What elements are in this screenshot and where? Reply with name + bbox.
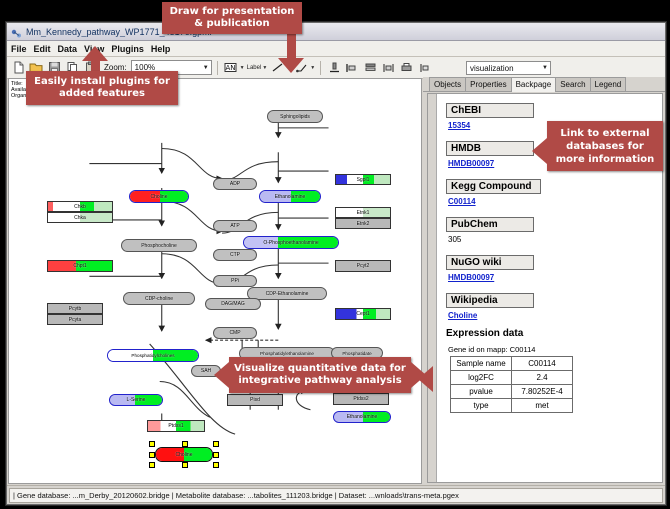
chevron-down-icon[interactable]: ▼ xyxy=(310,65,315,71)
callout-visualize: Visualize quantitative data for integrat… xyxy=(229,357,411,393)
visualization-value: visualization xyxy=(470,64,514,73)
align-left-icon[interactable] xyxy=(344,60,360,76)
node-sphingolipids[interactable]: Sphingolipids xyxy=(267,110,323,123)
backpage-link-kegg[interactable]: C00114 xyxy=(448,197,654,206)
node-ethanolamine-right[interactable]: Ethanolamine xyxy=(333,411,391,423)
datanode-tool[interactable]: AN ▼ xyxy=(223,60,245,76)
node-ethanolamine[interactable]: Ethanolamine xyxy=(259,190,321,203)
selection-handles[interactable] xyxy=(149,441,219,468)
callout-links-line2: databases for xyxy=(566,141,644,152)
node-atp[interactable]: ATP xyxy=(213,220,257,232)
title-bar: Mm_Kennedy_pathway_WP1771_45176.gpml xyxy=(7,23,665,41)
gene-pcyt2[interactable]: Pcyt2 xyxy=(335,260,391,272)
gene-pcyta[interactable]: Pcyta xyxy=(47,314,103,325)
gene-chpt1[interactable]: Chpt1 xyxy=(47,260,113,272)
menu-item-edit[interactable]: Edit xyxy=(34,44,51,54)
tab-objects[interactable]: Objects xyxy=(429,77,466,91)
callout-draw: Draw for presentation & publication xyxy=(162,2,302,34)
callout-plugins-line1: Easily install plugins for xyxy=(34,76,170,87)
svg-text:AN: AN xyxy=(226,64,236,72)
node-cdp-choline[interactable]: CDP-choline xyxy=(123,292,195,305)
backpage-heading-hmdb: HMDB xyxy=(446,141,534,156)
callout-draw-stem xyxy=(287,34,296,60)
gene-etnk1[interactable]: Etnk1 xyxy=(335,207,391,218)
callout-visualize-arrow-icon xyxy=(214,362,229,388)
label-tool[interactable]: Label ▼ xyxy=(247,65,268,71)
tab-search[interactable]: Search xyxy=(555,77,590,91)
backpage-scrollbar[interactable] xyxy=(428,94,437,482)
callout-draw-line2: & publication xyxy=(194,18,269,29)
table-row: Sample name C00114 xyxy=(451,357,573,371)
gene-cept1[interactable]: Cept1 xyxy=(335,308,391,320)
tab-legend[interactable]: Legend xyxy=(590,77,627,91)
toolbar-separator xyxy=(320,61,321,75)
align-bottom-icon[interactable] xyxy=(326,60,342,76)
status-text: | Gene database: ...m_Derby_20120602.bri… xyxy=(9,488,663,503)
callout-plugins-line2: added features xyxy=(59,88,145,99)
expression-table: Sample name C00114 log2FC 2.4 pvalue 7.8… xyxy=(450,356,573,413)
node-adp[interactable]: ADP xyxy=(213,178,257,190)
cell-label-sample: Sample name xyxy=(451,357,512,371)
cell-value-log2fc: 2.4 xyxy=(512,371,573,385)
new-file-icon[interactable] xyxy=(10,60,26,76)
callout-plugins-arrow-icon xyxy=(82,46,108,61)
menu-item-data[interactable]: Data xyxy=(58,44,78,54)
node-l-serine-left[interactable]: L-Serine xyxy=(109,394,163,406)
cell-label-log2fc: log2FC xyxy=(451,371,512,385)
table-row: log2FC 2.4 xyxy=(451,371,573,385)
pathvisio-icon xyxy=(11,26,22,37)
visualization-combo[interactable]: visualization ▼ xyxy=(466,61,551,75)
gene-ptdss1[interactable]: Ptdss1 xyxy=(147,420,205,432)
gene-chkb[interactable]: Chkb xyxy=(47,201,113,212)
node-phosphatidylcholines[interactable]: Phosphatidylcholines xyxy=(107,349,199,362)
node-ctp[interactable]: CTP xyxy=(213,249,257,261)
chevron-down-icon[interactable]: ▼ xyxy=(262,65,267,71)
gene-etnk2[interactable]: Etnk2 xyxy=(335,218,391,229)
backpage-heading-nugo: NuGO wiki xyxy=(446,255,534,270)
cell-label-pvalue: pvalue xyxy=(451,385,512,399)
chevron-down-icon: ▼ xyxy=(203,65,209,71)
callout-plugins: Easily install plugins for added feature… xyxy=(26,71,178,105)
chevron-down-icon[interactable]: ▼ xyxy=(240,65,245,71)
callout-links-line1: Link to external xyxy=(560,128,649,139)
menu-item-file[interactable]: File xyxy=(11,44,27,54)
node-phosphocholine[interactable]: Phosphocholine xyxy=(121,239,197,252)
gene-pisd[interactable]: Pisd xyxy=(227,394,283,406)
callout-visualize-line2: integrative pathway analysis xyxy=(238,375,401,386)
info-panel-tabs: Objects Properties Backpage Search Legen… xyxy=(423,77,665,92)
gene-ptdss2[interactable]: Ptdss2 xyxy=(333,393,389,405)
cell-label-type: type xyxy=(451,399,512,413)
callout-visualize-line1: Visualize quantitative data for xyxy=(234,363,406,374)
toolbar-separator xyxy=(217,61,218,75)
node-cdp-ethanolamine[interactable]: CDP-Ethanolamine xyxy=(247,287,327,300)
node-o-phosphoethanolamine[interactable]: O-Phosphoethanolamine xyxy=(243,236,339,249)
menu-item-plugins[interactable]: Plugins xyxy=(111,44,144,54)
menu-item-help[interactable]: Help xyxy=(151,44,171,54)
callout-draw-arrow-icon xyxy=(278,58,304,73)
cell-value-type: met xyxy=(512,399,573,413)
table-row: type met xyxy=(451,399,573,413)
cell-value-sample: C00114 xyxy=(512,357,573,371)
stack-icon[interactable] xyxy=(362,60,378,76)
callout-expression-pointer-icon xyxy=(418,366,433,392)
backpage-heading-kegg: Kegg Compound xyxy=(446,179,541,194)
status-bar: | Gene database: ...m_Derby_20120602.bri… xyxy=(7,485,665,504)
same-width-icon[interactable] xyxy=(380,60,396,76)
pathway-drawing[interactable]: Title: Availa Organ xyxy=(9,79,421,483)
expression-data-title: Expression data xyxy=(446,328,654,339)
node-choline-top[interactable]: Choline xyxy=(129,190,189,203)
callout-links-line3: more information xyxy=(556,154,655,165)
gene-chka[interactable]: Chka xyxy=(47,212,113,223)
gene-pcytb[interactable]: Pcytb xyxy=(47,303,103,314)
backpage-link-wikipedia[interactable]: Choline xyxy=(448,311,654,320)
callout-links-arrow-icon xyxy=(532,138,547,164)
pathway-canvas[interactable]: Title: Availa Organ xyxy=(8,78,422,484)
backpage-link-nugo[interactable]: HMDB00097 xyxy=(448,273,654,282)
node-dag-mag[interactable]: DAG/MAG xyxy=(205,298,261,310)
cell-value-pvalue: 7.80252E-4 xyxy=(512,385,573,399)
datanode-icon[interactable]: AN xyxy=(223,60,239,76)
callout-draw-line1: Draw for presentation xyxy=(170,6,295,17)
chevron-down-icon: ▼ xyxy=(542,65,548,71)
callout-links: Link to external databases for more info… xyxy=(547,121,663,171)
tab-properties[interactable]: Properties xyxy=(465,77,511,91)
node-cmp[interactable]: CMP xyxy=(213,327,257,339)
gene-id-line: Gene id on mapp: C00114 xyxy=(448,345,654,354)
node-ppi[interactable]: PPi xyxy=(213,275,257,287)
anchor-icon[interactable] xyxy=(416,60,432,76)
tab-backpage[interactable]: Backpage xyxy=(511,77,557,92)
backpage-heading-chebi: ChEBI xyxy=(446,103,534,118)
backpage-value-pubchem: 305 xyxy=(448,235,654,244)
label-tool-text: Label xyxy=(247,65,262,71)
backpage-heading-pubchem: PubChem xyxy=(446,217,534,232)
gene-sgpl1[interactable]: Sgpl1 xyxy=(335,174,391,185)
print-icon[interactable] xyxy=(398,60,414,76)
table-row: pvalue 7.80252E-4 xyxy=(451,385,573,399)
backpage-heading-wikipedia: Wikipedia xyxy=(446,293,534,308)
